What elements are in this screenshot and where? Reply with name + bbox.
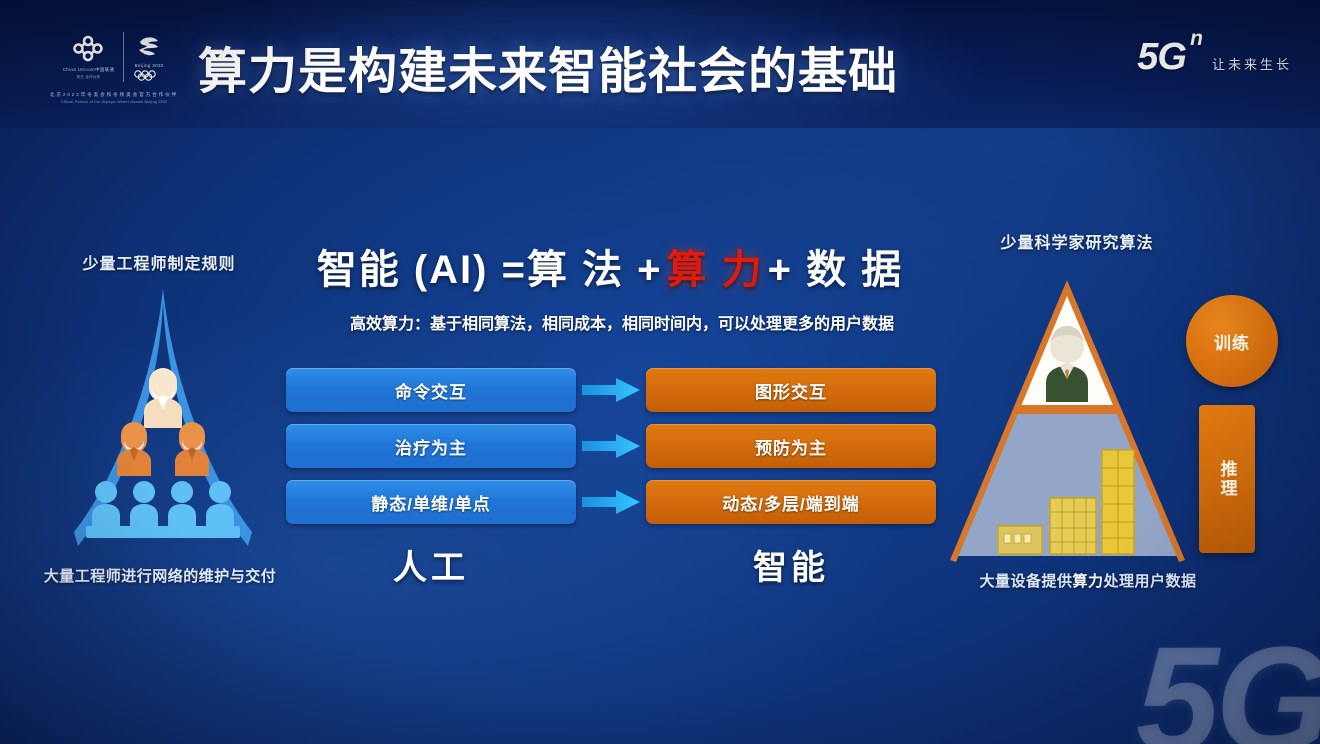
efficiency-subline: 高效算力：基于相同算法，相同成本，相同时间内，可以处理更多的用户数据 [272,310,972,334]
beijing-label: Beijing 2022 [135,63,164,69]
right-caption-bottom-highlight: 算力 [1072,573,1103,590]
left-caption-bottom: 大量工程师进行网络的维护与交付 [10,565,310,586]
slide-root: China Unicom中国联通 官方 合作伙伴 Beijing 2022 北京… [0,0,1320,744]
badge-inference-label: 推理 [1215,460,1240,498]
transformation-row: 静态/单维/单点 动态/多层/端到端 [286,480,936,524]
left-pyramid-svg [48,280,278,555]
logo-footer: 北京2022年冬奥会和冬残奥会官方合作伙伴 Official Partner o… [24,92,204,104]
chip-from-0[interactable]: 命令交互 [286,368,576,412]
unicom-sublabel: 官方 合作伙伴 [77,75,101,80]
engineer-figures-bottom-row [86,481,240,538]
equation-part-1: 智能 (AI) = [317,237,527,295]
olympic-rings-icon [133,70,165,81]
watermark-5g: 5G [1136,624,1320,744]
china-unicom-logo: China Unicom中国联通 官方 合作伙伴 [63,34,115,81]
right-caption-bottom-a: 大量设备提供 [979,573,1072,590]
badge-inference[interactable]: 推理 [1199,405,1255,553]
arrow-right-icon [576,424,646,468]
right-caption-bottom-b: 处理用户数据 [1104,573,1197,590]
label-manual: 人工 [286,540,576,589]
badge-training[interactable]: 训练 [1186,295,1278,387]
bottom-labels: 人工 智能 [286,540,936,589]
label-spacer [576,540,646,589]
logo-footer-en: Official Partner of the Olympic Winter G… [24,100,204,104]
label-intelligent: 智能 [646,540,936,589]
left-caption-top: 少量工程师制定规则 [44,250,274,274]
chip-from-1[interactable]: 治疗为主 [286,424,576,468]
equation-part-2: 算 法 + [527,237,663,295]
beijing-winter-emblem-icon [134,33,164,61]
arrow-right-icon [576,368,646,412]
arrow-right-icon [576,480,646,524]
chip-to-0[interactable]: 图形交互 [646,368,936,412]
right-caption-top: 少量科学家研究算法 [952,229,1202,253]
right-caption-bottom: 大量设备提供算力处理用户数据 [928,570,1248,591]
logo-footer-cn: 北京2022年冬奥会和冬残奥会官方合作伙伴 [24,92,204,98]
equation-highlight-computing-power: 算 力 [663,237,768,295]
brand-superscript-n: n [1190,28,1202,49]
brand-slogan: 让未来生长 [1212,54,1292,73]
chip-from-2[interactable]: 静态/单维/单点 [286,480,576,524]
transformation-rows: 命令交互 图形交互 治疗为主 [286,368,936,536]
arrow-right-svg [582,377,640,403]
unicom-knot-icon [71,34,105,64]
brand-5gn-block: 5Gn 让未来生长 [1137,38,1292,76]
equation-part-3: + 数 据 [768,237,904,295]
partner-logo-block: China Unicom中国联通 官方 合作伙伴 Beijing 2022 北京… [24,26,204,118]
right-pyramid-graphic [950,272,1185,562]
arrow-right-svg [582,489,640,515]
pyramid-divider [1014,405,1120,414]
brand-5g-text: 5Gn [1137,38,1186,76]
arrow-right-svg [582,433,640,459]
page-title: 算力是构建未来智能社会的基础 [198,32,898,102]
unicom-label: China Unicom中国联通 [63,67,115,73]
chip-to-2[interactable]: 动态/多层/端到端 [646,480,936,524]
right-pyramid-svg [950,272,1185,562]
beijing-2022-logo: Beijing 2022 [133,33,165,82]
logo-divider [123,32,124,82]
transformation-row: 命令交互 图形交互 [286,368,936,412]
chip-to-1[interactable]: 预防为主 [646,424,936,468]
ai-equation: 智能 (AI) = 算 法 + 算 力 + 数 据 [290,238,930,294]
transformation-row: 治疗为主 预防为主 [286,424,936,468]
left-pyramid-graphic [48,280,278,555]
